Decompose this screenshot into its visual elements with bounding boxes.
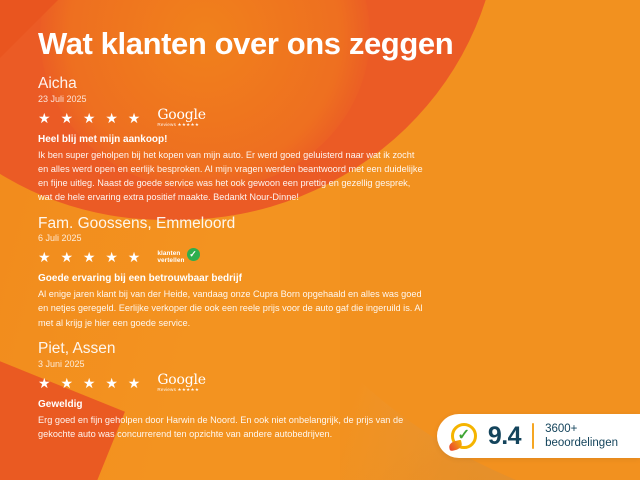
klantenvertellen-logo-text: klanten vertellen [157,250,184,265]
klantenvertellen-line1: klanten [157,250,184,257]
page-title: Wat klanten over ons zeggen [38,28,640,59]
review-card: Piet, Assen 3 Juni 2025 ★ ★ ★ ★ ★ Google… [38,340,426,441]
score-count-label: 3600+ beoordelingen [545,422,618,451]
reviewer-name: Piet, Assen [38,340,426,358]
score-count-word: beoordelingen [545,436,618,450]
overall-score-badge: ✓ 9.4 3600+ beoordelingen [437,414,640,458]
star-rating-icon: ★ ★ ★ ★ ★ [38,111,143,125]
google-reviews-subtext: Reviews ★★★★★ [157,388,199,393]
review-meta: ★ ★ ★ ★ ★ Google Reviews ★★★★★ [38,108,426,128]
review-body: Al enige jaren klant bij van der Heide, … [38,287,426,330]
score-value: 9.4 [488,424,521,449]
reviewer-name: Aicha [38,75,426,93]
star-rating-icon: ★ ★ ★ ★ ★ [38,376,143,390]
klantenvertellen-badge: klanten vertellen ✓ [157,248,199,267]
klantenvertellen-line2: vertellen [157,257,184,264]
review-meta: ★ ★ ★ ★ ★ Google Reviews ★★★★★ [38,373,426,393]
review-body: Erg goed en fijn geholpen door Harwin de… [38,413,426,442]
score-count: 3600+ [545,422,618,436]
google-reviews-badge: Google Reviews ★★★★★ [157,108,206,128]
reviewer-name: Fam. Goossens, Emmeloord [38,215,426,233]
review-meta: ★ ★ ★ ★ ★ klanten vertellen ✓ [38,247,426,267]
seal-check-icon: ✓ [458,427,471,442]
testimonials-banner: Wat klanten over ons zeggen Aicha 23 Jul… [0,0,640,480]
review-date: 23 Juli 2025 [38,94,426,105]
review-card: Fam. Goossens, Emmeloord 6 Juli 2025 ★ ★… [38,215,426,330]
score-divider [532,423,534,449]
review-title: Heel blij met mijn aankoop! [38,133,426,146]
review-card: Aicha 23 Juli 2025 ★ ★ ★ ★ ★ Google Revi… [38,75,426,205]
review-date: 3 Juni 2025 [38,359,426,370]
review-date: 6 Juli 2025 [38,233,426,244]
google-logo-text: Google [157,108,206,122]
banner-content: Wat klanten over ons zeggen Aicha 23 Jul… [0,0,640,480]
review-title: Geweldig [38,398,426,411]
google-reviews-subtext: Reviews ★★★★★ [157,123,199,128]
check-circle-icon: ✓ [187,248,200,261]
google-logo-text: Google [157,373,206,387]
star-rating-icon: ★ ★ ★ ★ ★ [38,250,143,264]
klantenvertellen-seal-icon: ✓ [451,423,477,449]
review-body: Ik ben super geholpen bij het kopen van … [38,148,426,205]
review-title: Goede ervaring bij een betrouwbaar bedri… [38,272,426,285]
google-reviews-badge: Google Reviews ★★★★★ [157,373,206,393]
